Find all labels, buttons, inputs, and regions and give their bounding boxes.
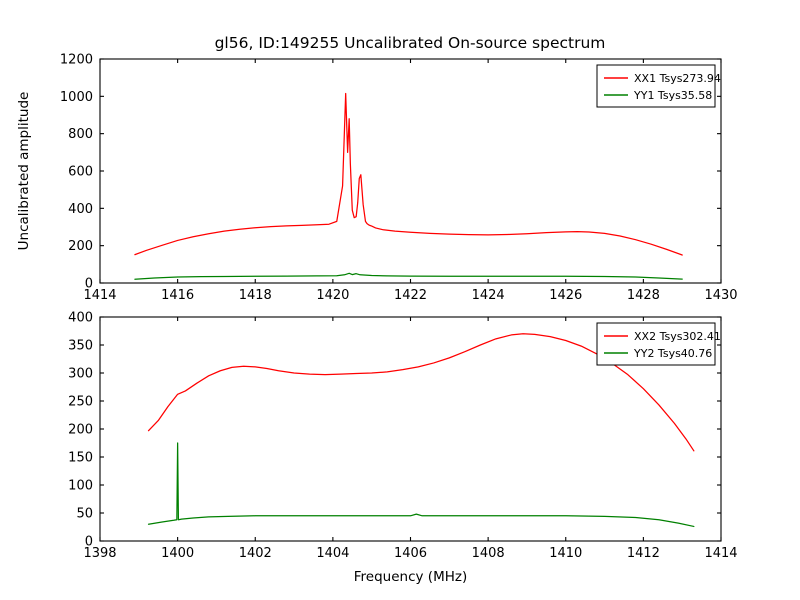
x-tick-label: 1408 — [472, 546, 505, 561]
x-tick-label: 1420 — [316, 288, 349, 303]
data-area — [135, 94, 682, 280]
x-tick-label: 1418 — [239, 288, 272, 303]
y-tick-label: 200 — [68, 423, 93, 438]
y-tick-label: 300 — [68, 367, 93, 382]
y-tick-label: 0 — [85, 535, 93, 550]
y-tick-label: 100 — [68, 479, 93, 494]
y-tick-label: 400 — [68, 202, 93, 217]
legend-entry-label: XX2 Tsys302.41 — [634, 330, 721, 343]
y-tick-label: 200 — [68, 239, 93, 254]
x-tick-label: 1430 — [704, 288, 737, 303]
x-tick-label: 1414 — [704, 546, 737, 561]
x-tick-label: 1422 — [394, 288, 427, 303]
x-tick-label: 1424 — [472, 288, 505, 303]
x-tick-label: 1410 — [549, 546, 582, 561]
legend-entry-label: YY1 Tsys35.58 — [633, 89, 712, 102]
x-tick-label: 1406 — [394, 546, 427, 561]
y-tick-label: 150 — [68, 451, 93, 466]
x-tick-label: 1404 — [316, 546, 349, 561]
plot-canvas: gl56, ID:149255 Uncalibrated On-source s… — [0, 0, 800, 600]
y-tick-label: 50 — [76, 507, 93, 522]
x-tick-label: 1412 — [627, 546, 660, 561]
y-tick-label: 400 — [68, 311, 93, 326]
bottom-spectrum-panel: 1398140014021404140614081410141214140501… — [68, 311, 737, 586]
top-spectrum-panel: 1414141614181420142214241426142814300200… — [16, 53, 738, 304]
series-line-xx1 — [135, 94, 682, 255]
y-axis-label: Uncalibrated amplitude — [16, 92, 32, 251]
spectrum-figure: gl56, ID:149255 Uncalibrated On-source s… — [0, 0, 800, 600]
series-line-yy2 — [149, 443, 694, 526]
x-tick-label: 1428 — [627, 288, 660, 303]
x-axis-label: Frequency (MHz) — [354, 569, 467, 585]
y-tick-label: 250 — [68, 395, 93, 410]
y-tick-label: 800 — [68, 127, 93, 142]
y-tick-label: 600 — [68, 165, 93, 180]
legend: XX1 Tsys273.94YY1 Tsys35.58 — [597, 65, 721, 107]
y-tick-label: 1200 — [60, 53, 93, 68]
series-line-yy1 — [135, 273, 682, 279]
y-tick-label: 1000 — [60, 90, 93, 105]
legend-entry-label: YY2 Tsys40.76 — [633, 347, 712, 360]
y-tick-label: 0 — [85, 277, 93, 292]
y-tick-label: 350 — [68, 339, 93, 354]
x-tick-label: 1400 — [161, 546, 194, 561]
legend-entry-label: XX1 Tsys273.94 — [634, 72, 721, 85]
x-tick-label: 1416 — [161, 288, 194, 303]
page-title: gl56, ID:149255 Uncalibrated On-source s… — [215, 34, 606, 52]
legend: XX2 Tsys302.41YY2 Tsys40.76 — [597, 323, 721, 365]
x-tick-label: 1402 — [239, 546, 272, 561]
x-tick-label: 1426 — [549, 288, 582, 303]
